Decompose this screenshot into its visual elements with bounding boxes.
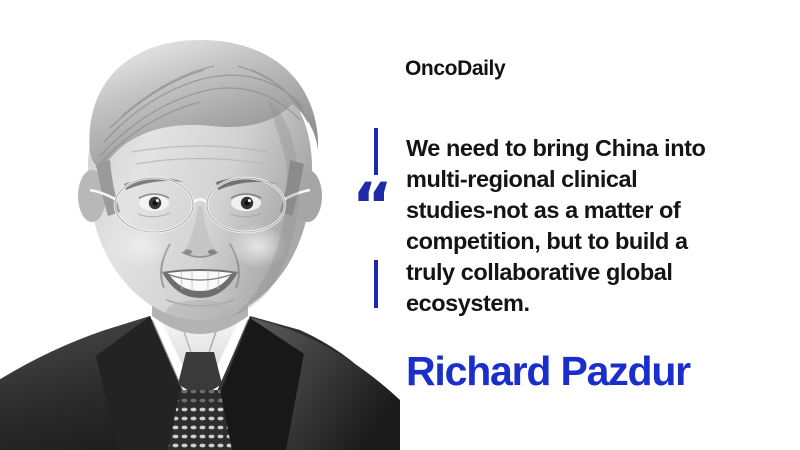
quote-card: OncoDaily “ We need to bring China into … — [0, 0, 800, 450]
quote-line: multi-regional clinical — [406, 164, 736, 195]
quote-ornament: “ — [370, 128, 400, 308]
quote-line: ecosystem. — [406, 288, 736, 319]
nostril-left — [184, 249, 192, 254]
accent-rule-top — [374, 128, 378, 175]
accent-rule-bottom — [374, 260, 378, 308]
portrait-illustration — [0, 0, 400, 450]
cheek-highlight-left — [112, 224, 172, 268]
attribution-name: Richard Pazdur — [406, 348, 690, 395]
quote-line: competition, but to build a — [406, 226, 736, 257]
quote-line: We need to bring China into — [406, 133, 736, 164]
chin-shadow — [166, 300, 234, 324]
nostril-right — [208, 249, 216, 254]
quotation-mark-icon: “ — [352, 184, 400, 232]
quote-text: We need to bring China into multi-region… — [406, 133, 736, 319]
eye-catchlight-left — [156, 199, 159, 202]
eye-catchlight-right — [248, 199, 251, 202]
brand-logo: OncoDaily — [405, 57, 505, 81]
tie-shadow — [178, 390, 222, 404]
portrait-photo — [0, 0, 400, 450]
quote-line: studies-not as a matter of — [406, 195, 736, 226]
quote-line: truly collaborative global — [406, 257, 736, 288]
